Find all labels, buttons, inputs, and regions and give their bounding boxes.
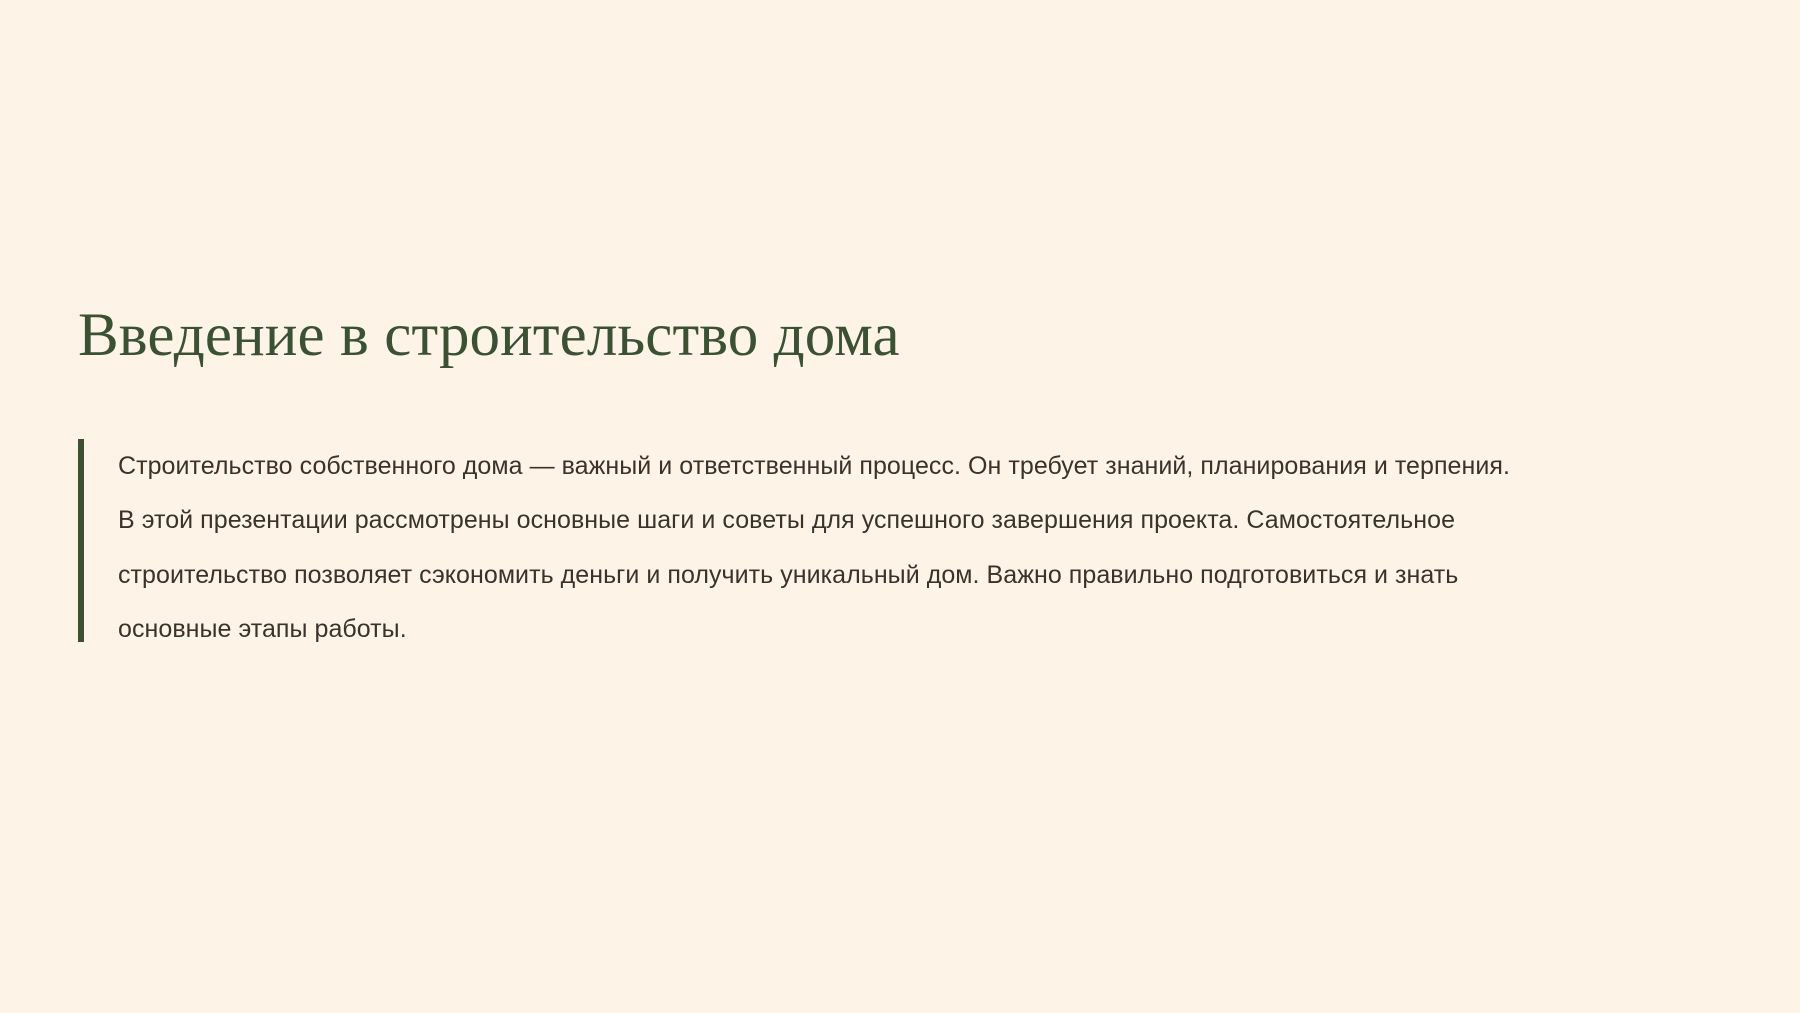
presentation-slide: Введение в строительство дома Строительс… bbox=[0, 0, 1800, 1013]
page-title: Введение в строительство дома bbox=[78, 300, 1718, 372]
body-paragraph: Строительство собственного дома — важный… bbox=[118, 439, 1533, 657]
slide-content: Введение в строительство дома Строительс… bbox=[78, 300, 1718, 657]
body-quote-block: Строительство собственного дома — важный… bbox=[78, 439, 1718, 657]
accent-bar bbox=[78, 439, 84, 642]
